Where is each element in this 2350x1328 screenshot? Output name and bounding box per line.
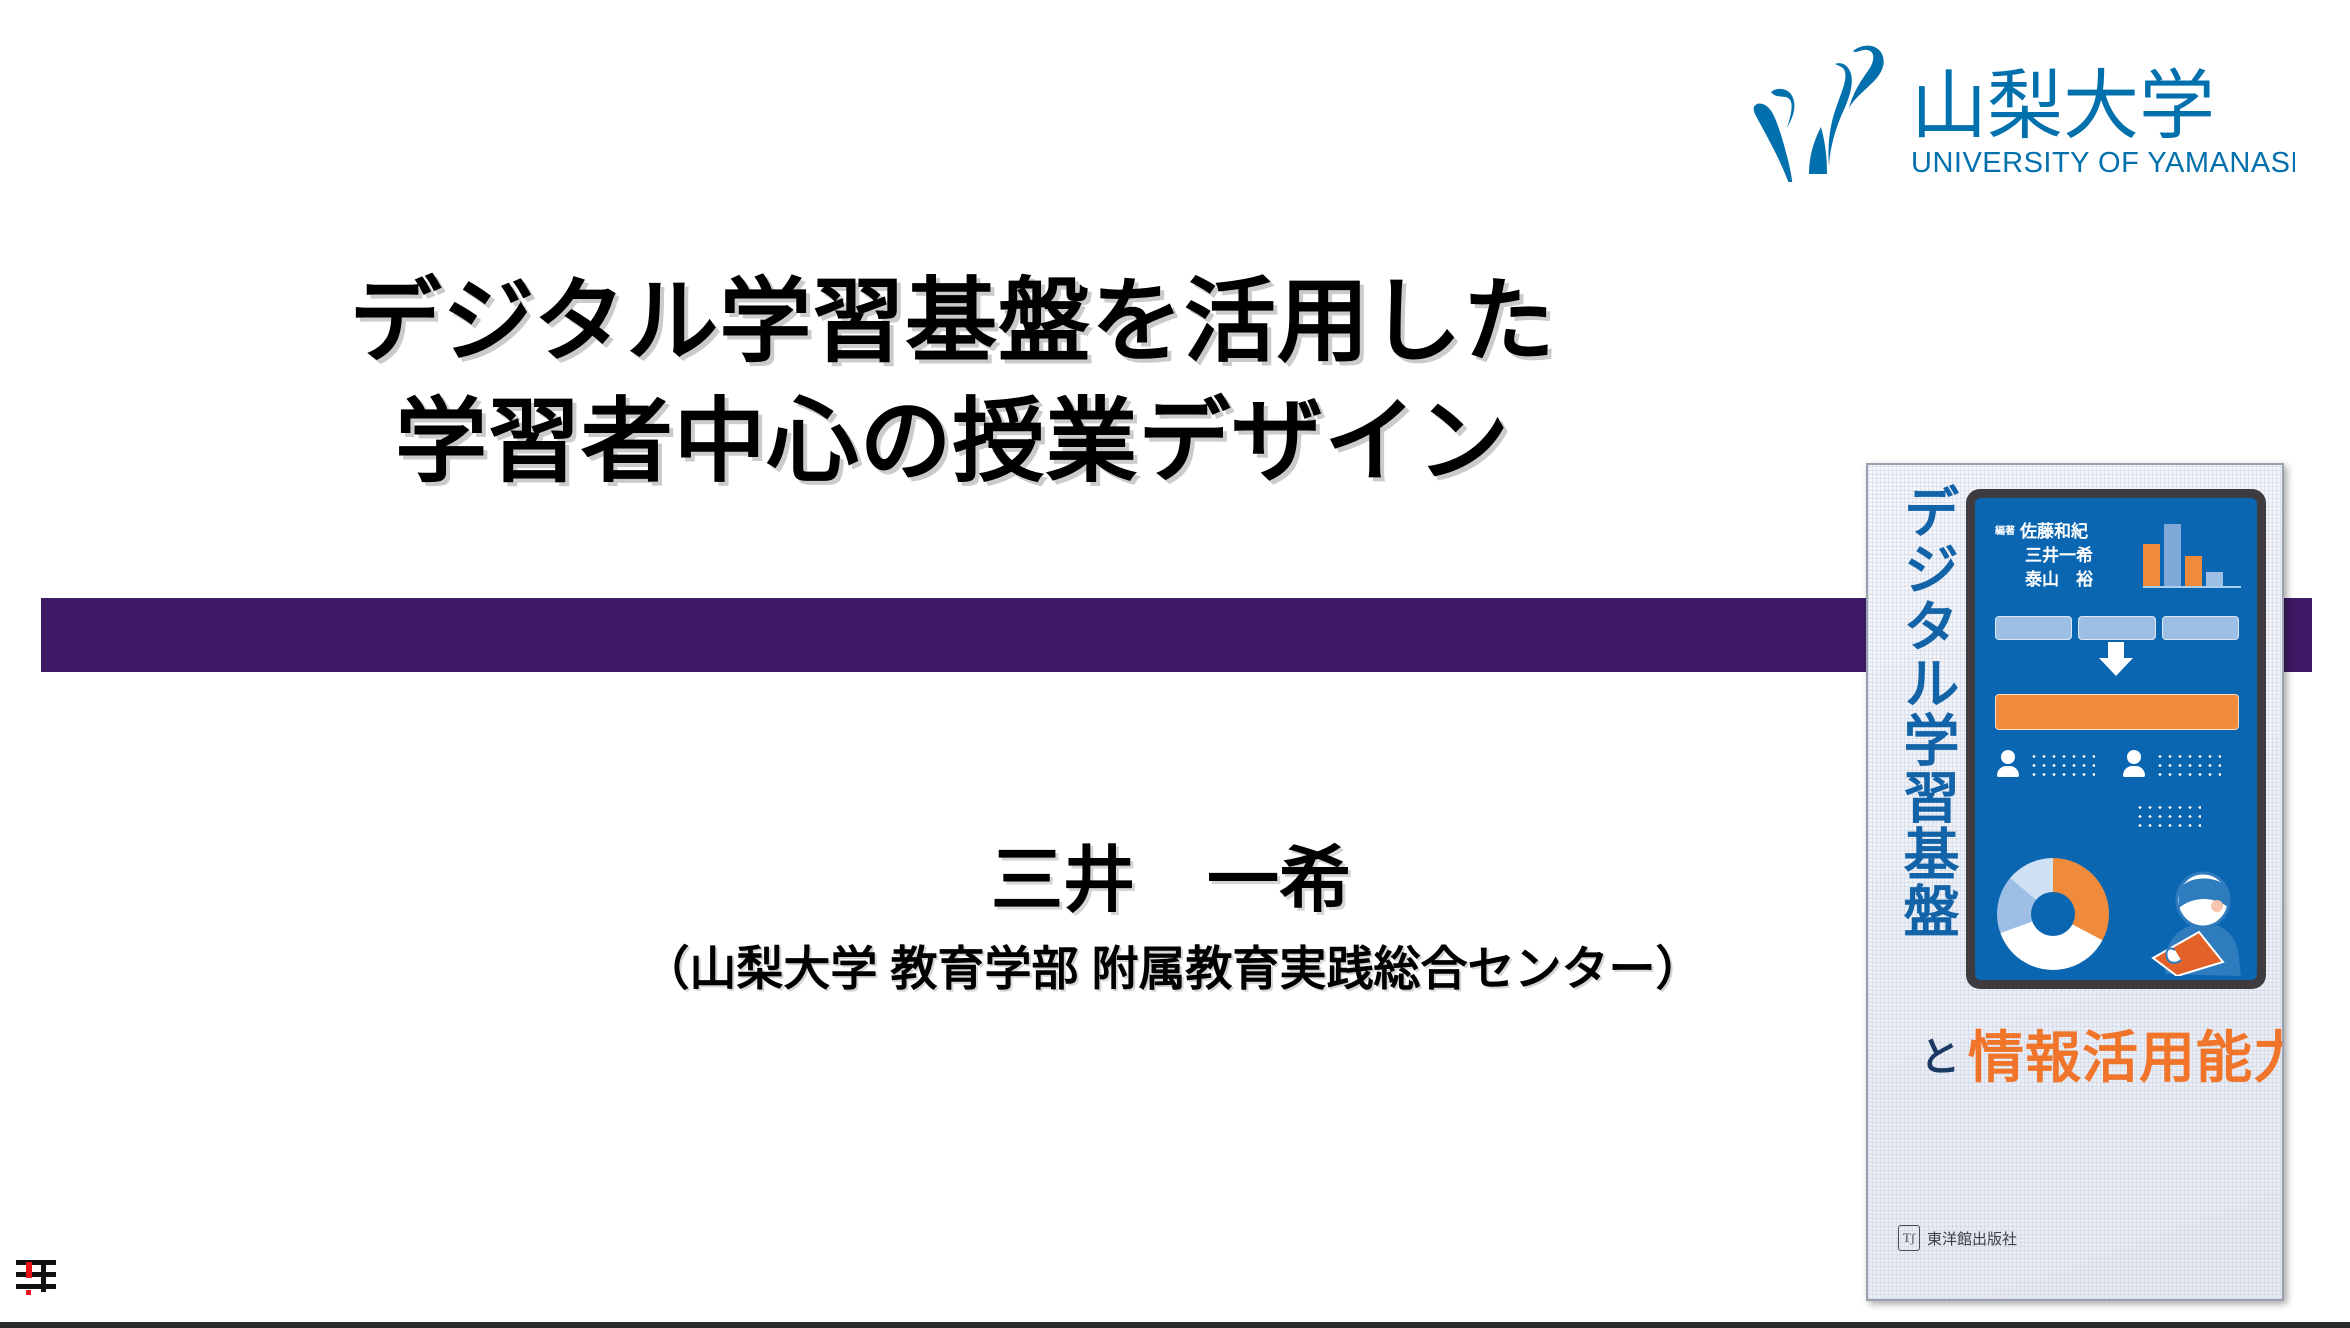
book-cover-bar-chart <box>2143 524 2241 588</box>
bar-4 <box>2206 572 2223 586</box>
logo-name-en: UNIVERSITY OF YAMANASHI <box>1911 147 2295 179</box>
book-cover-dots <box>2029 752 2095 778</box>
slide-title: デジタル学習基盤を活用した 学習者中心の授業デザイン <box>0 262 1905 502</box>
flow-box-1 <box>1995 616 2072 640</box>
book-cover-flow-boxes <box>1995 616 2239 640</box>
person-icon <box>2123 750 2145 777</box>
book-cover-highlight-title: 情報活用能力 <box>1968 1026 2284 1091</box>
book-cover-editor-row: 編著佐藤和紀 <box>1995 520 2093 544</box>
book-cover-dots <box>2155 752 2221 778</box>
publisher-name: 東洋館出版社 <box>1927 1228 2017 1249</box>
book-cover-dots <box>2135 803 2201 829</box>
slide-root: 山梨大学 UNIVERSITY OF YAMANASHI デジタル学習基盤を活用… <box>0 0 2350 1328</box>
book-cover-bottom-title: と情報活用能力 <box>1920 1013 2270 1094</box>
logo-name-ja: 山梨大学 <box>1911 61 2215 150</box>
title-line-2: 学習者中心の授業デザイン <box>0 382 1905 502</box>
book-cover-editor-name: 佐藤和紀 <box>2020 522 2088 542</box>
book-cover-editor-name: 三井一希 <box>2025 546 2093 566</box>
bar-3 <box>2185 556 2202 586</box>
book-cover-image: デジタル学習基盤 編著佐藤和紀 三井一希 泰山 裕 <box>1866 463 2284 1301</box>
book-cover-tablet-illustration: 編著佐藤和紀 三井一希 泰山 裕 <box>1966 489 2266 989</box>
slide-corner-mark-icon <box>14 1252 60 1298</box>
book-cover-donut-chart <box>1997 858 2109 970</box>
flow-box-3 <box>2162 616 2239 640</box>
title-line-1: デジタル学習基盤を活用した <box>0 262 1905 382</box>
person-icon <box>1997 750 2019 777</box>
flow-box-2 <box>2078 616 2155 640</box>
book-cover-editors: 編著佐藤和紀 三井一希 泰山 裕 <box>1995 520 2093 592</box>
publisher-logo-icon: Tʃ <box>1898 1225 1920 1251</box>
book-cover-editor-row: 三井一希 <box>1995 544 2093 568</box>
book-cover-tablet-screen: 編著佐藤和紀 三井一希 泰山 裕 <box>1975 498 2257 980</box>
book-cover-orange-bar <box>1995 694 2239 730</box>
book-cover-editor-name: 泰山 裕 <box>2025 570 2093 590</box>
book-cover-reader-illustration <box>2145 866 2249 976</box>
book-cover-editors-label: 編著 <box>1995 526 2015 537</box>
book-cover-publisher: Tʃ 東洋館出版社 <box>1898 1225 2017 1251</box>
bar-2 <box>2164 524 2181 586</box>
book-cover-editor-row: 泰山 裕 <box>1995 568 2093 592</box>
book-cover-connector: と <box>1920 1035 1960 1081</box>
yamanashi-v-mark-icon <box>1754 46 1884 182</box>
bar-1 <box>2143 544 2160 586</box>
university-logo: 山梨大学 UNIVERSITY OF YAMANASHI <box>1735 32 2295 182</box>
